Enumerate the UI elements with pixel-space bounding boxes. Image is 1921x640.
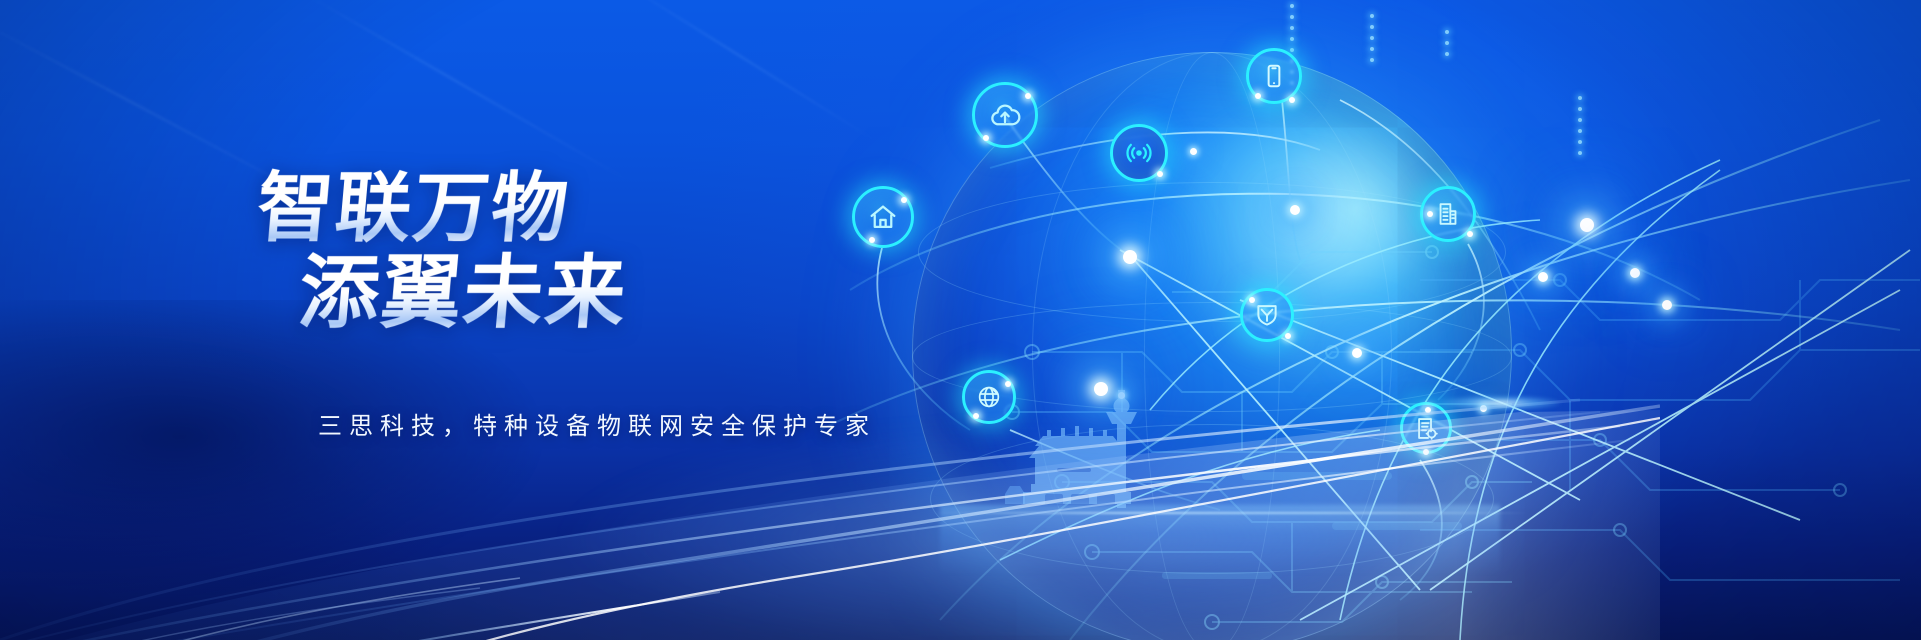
node-connector-dot: [973, 413, 979, 419]
network-node: [1290, 205, 1300, 215]
node-connector-dot: [1157, 171, 1163, 177]
dotted-trail: [1370, 14, 1374, 69]
dotted-trail: [1445, 30, 1449, 63]
network-node: [1123, 250, 1137, 264]
globe-network-icon[interactable]: [962, 370, 1016, 424]
node-connector-dot: [1255, 93, 1261, 99]
ribbon-spark: [1440, 396, 1560, 410]
node-connector-dot: [1289, 97, 1295, 103]
node-connector-dot: [1025, 93, 1031, 99]
node-connector-dot: [1249, 297, 1255, 303]
document-icon[interactable]: [1420, 186, 1476, 242]
home-icon[interactable]: [852, 186, 914, 248]
network-node: [1580, 218, 1594, 232]
network-node: [1630, 268, 1640, 278]
node-connector-dot: [1467, 231, 1473, 237]
node-connector-dot: [1423, 449, 1429, 455]
node-connector-dot: [901, 197, 907, 203]
headline-line-2: 添翼未来: [295, 228, 633, 344]
hero-subtitle: 三思科技，特种设备物联网安全保护专家: [318, 406, 876, 441]
network-node: [1190, 148, 1197, 155]
network-node: [1662, 300, 1672, 310]
node-connector-dot: [1285, 333, 1291, 339]
water-reflection: [940, 505, 1500, 575]
dotted-trail: [1578, 96, 1582, 162]
cloud-upload-icon[interactable]: [972, 82, 1038, 148]
network-node: [1352, 348, 1362, 358]
node-connector-dot: [1427, 211, 1433, 217]
node-connector-dot: [983, 135, 989, 141]
water-horizon-line: [930, 512, 1530, 514]
report-gear-icon[interactable]: [1400, 402, 1452, 454]
network-node: [1538, 272, 1548, 282]
node-connector-dot: [1425, 407, 1431, 413]
hero-text-block: 智联万物 添翼未来 三思科技，特种设备物联网安全保护专家: [0, 0, 820, 640]
hero-banner: 智联万物 添翼未来 三思科技，特种设备物联网安全保护专家: [0, 0, 1921, 640]
wifi-signal-icon[interactable]: [1110, 124, 1168, 182]
mobile-phone-icon[interactable]: [1246, 48, 1302, 104]
node-connector-dot: [869, 237, 875, 243]
shield-icon[interactable]: [1240, 288, 1294, 342]
node-connector-dot: [1005, 381, 1011, 387]
